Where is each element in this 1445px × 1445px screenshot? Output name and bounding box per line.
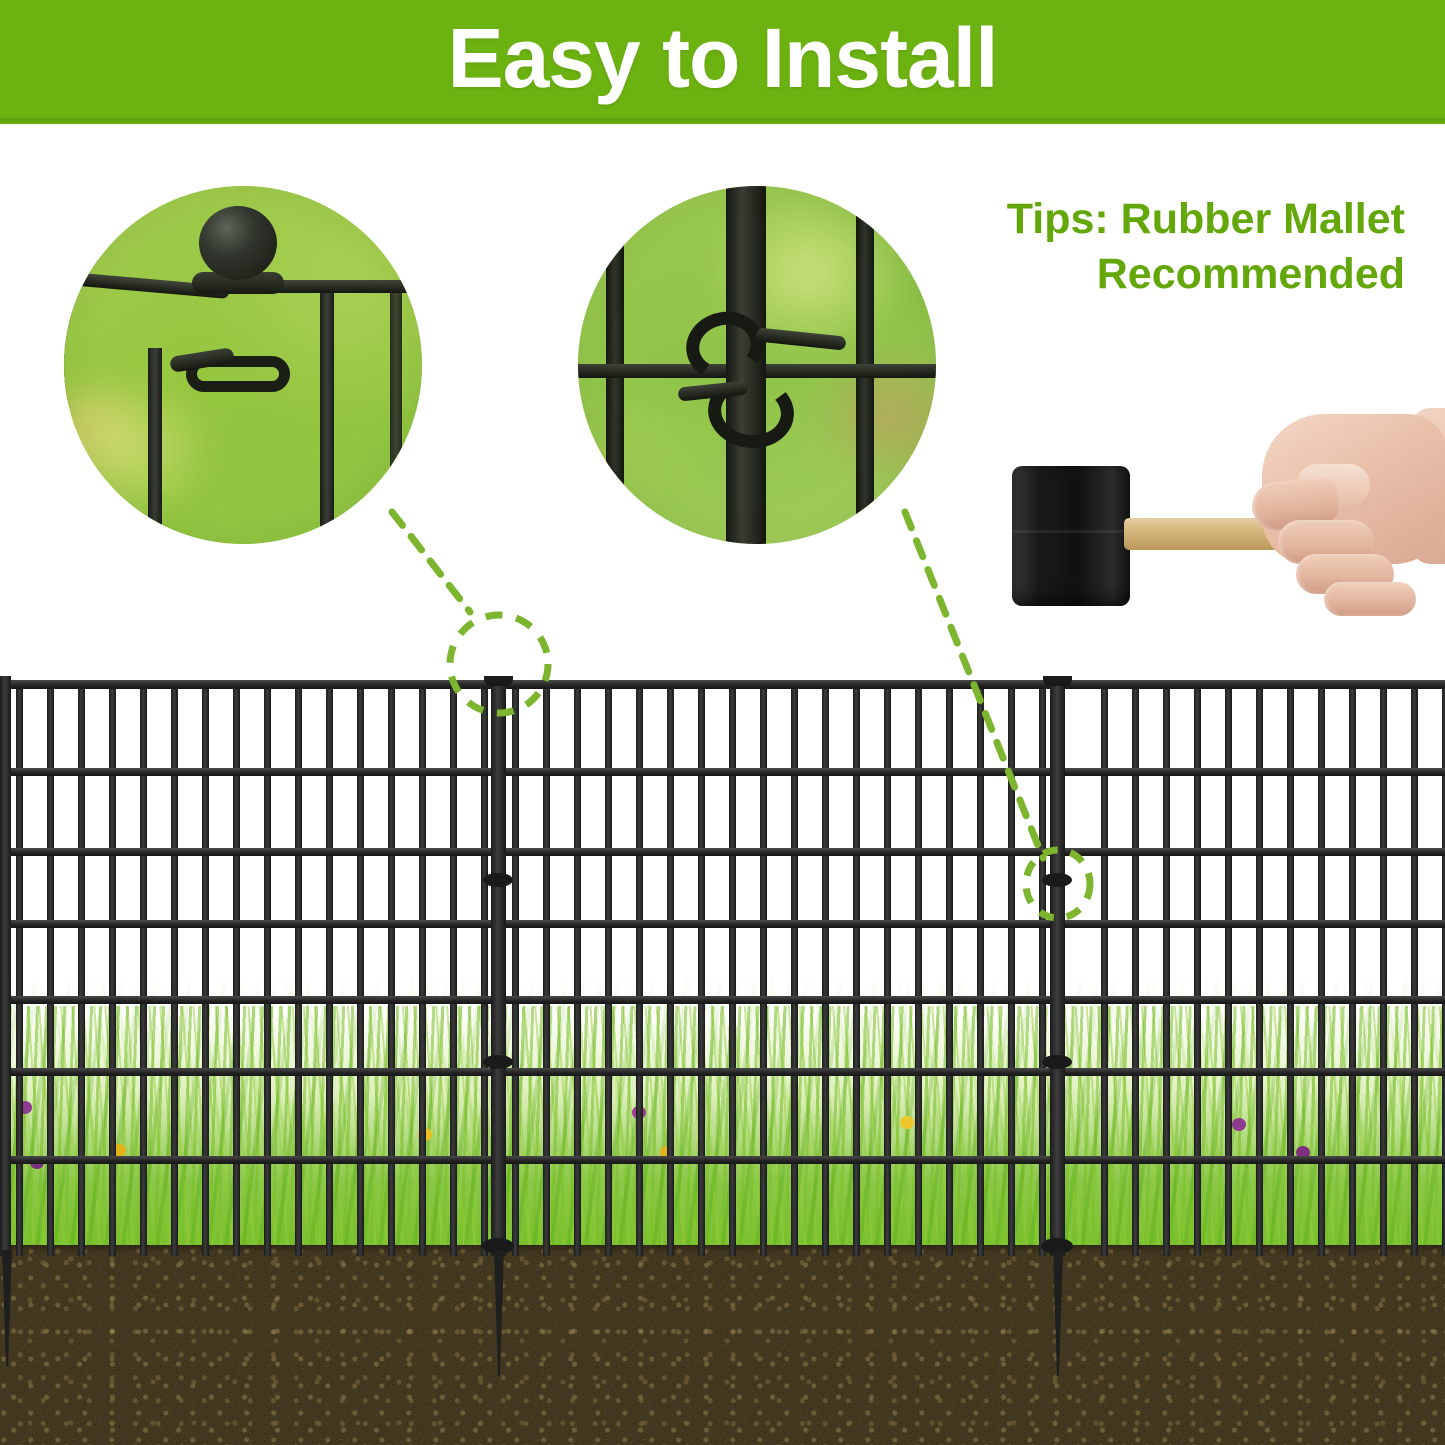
- fence-bar: [667, 680, 674, 1256]
- fence-bar: [481, 680, 488, 1256]
- banner-bottom-edge: [0, 118, 1445, 125]
- fence-bar: [791, 680, 798, 1256]
- fence-bar: [1256, 680, 1263, 1256]
- fence-bar: [140, 680, 147, 1256]
- fence-bar: [171, 680, 178, 1256]
- hand-icon: [1244, 414, 1445, 604]
- fence-bar: [915, 680, 922, 1256]
- fence-bar: [946, 680, 953, 1256]
- fence-bar: [16, 680, 23, 1256]
- fence-bar: [1008, 680, 1015, 1256]
- post-connector: [483, 1055, 513, 1069]
- fence-bar: [264, 680, 271, 1256]
- fence-vertical-bars: [16, 680, 1445, 1256]
- fence-bar: [1132, 680, 1139, 1256]
- fence-bar: [357, 680, 364, 1256]
- fence-bar: [698, 680, 705, 1256]
- finger-pinky: [1324, 582, 1416, 616]
- fence-bar: [202, 680, 209, 1256]
- fence-bar: [326, 680, 333, 1256]
- fence-bar: [512, 680, 519, 1256]
- rubber-mallet-with-hand: [1000, 438, 1445, 628]
- fence-bar: [543, 680, 550, 1256]
- ground-spike: [1053, 1250, 1063, 1376]
- tips-line-1: Tips: Rubber Mallet: [935, 192, 1405, 247]
- fence-bar: [1318, 680, 1325, 1256]
- header-banner: Easy to Install: [0, 0, 1445, 124]
- fence-bar: [760, 680, 767, 1256]
- ground-spike: [494, 1250, 504, 1376]
- fence-bar: [1101, 680, 1108, 1256]
- page-title: Easy to Install: [448, 16, 998, 100]
- fence-bar: [1349, 680, 1356, 1256]
- fence-post-left-edge: [0, 676, 11, 1256]
- post-connector: [483, 873, 513, 887]
- fence-graphic: [0, 676, 1445, 1445]
- fence-bar: [47, 680, 54, 1256]
- fence-bar: [1411, 680, 1418, 1256]
- fence-bar: [1287, 680, 1294, 1256]
- fence-bar: [233, 680, 240, 1256]
- fence-bar: [1163, 680, 1170, 1256]
- fence-bar: [1039, 680, 1046, 1256]
- fence-bar: [419, 680, 426, 1256]
- tips-text: Tips: Rubber Mallet Recommended: [935, 192, 1405, 302]
- fence-bar: [1194, 680, 1201, 1256]
- fence-bar: [605, 680, 612, 1256]
- post-connector: [1042, 1055, 1072, 1069]
- callout-circle-s-hook: S-hook wire connector interlocking the f…: [578, 186, 936, 544]
- fence-bar: [574, 680, 581, 1256]
- ground-spike: [2, 1250, 12, 1366]
- fence-scene: [0, 676, 1445, 1445]
- fence-bar: [853, 680, 860, 1256]
- fence-bar: [295, 680, 302, 1256]
- circle-inner-shadow: [64, 186, 422, 544]
- fence-bar: [636, 680, 643, 1256]
- tips-line-2: Recommended: [935, 247, 1405, 302]
- mallet-head-icon: [1012, 466, 1130, 606]
- circle-inner-shadow: [578, 186, 936, 544]
- fence-bar: [1225, 680, 1232, 1256]
- fence-bar: [822, 680, 829, 1256]
- fence-bar: [450, 680, 457, 1256]
- fence-bar: [977, 680, 984, 1256]
- fence-ground-spikes-extra: [2, 1250, 12, 1366]
- fence-bar: [109, 680, 116, 1256]
- fence-bar: [388, 680, 395, 1256]
- fence-bar: [729, 680, 736, 1256]
- callout-circle-post-finial: fence post ball finial with looped wire …: [64, 186, 422, 544]
- fence-bar: [78, 680, 85, 1256]
- post-connector: [1042, 873, 1072, 887]
- fence-bar: [884, 680, 891, 1256]
- fence-bar: [1380, 680, 1387, 1256]
